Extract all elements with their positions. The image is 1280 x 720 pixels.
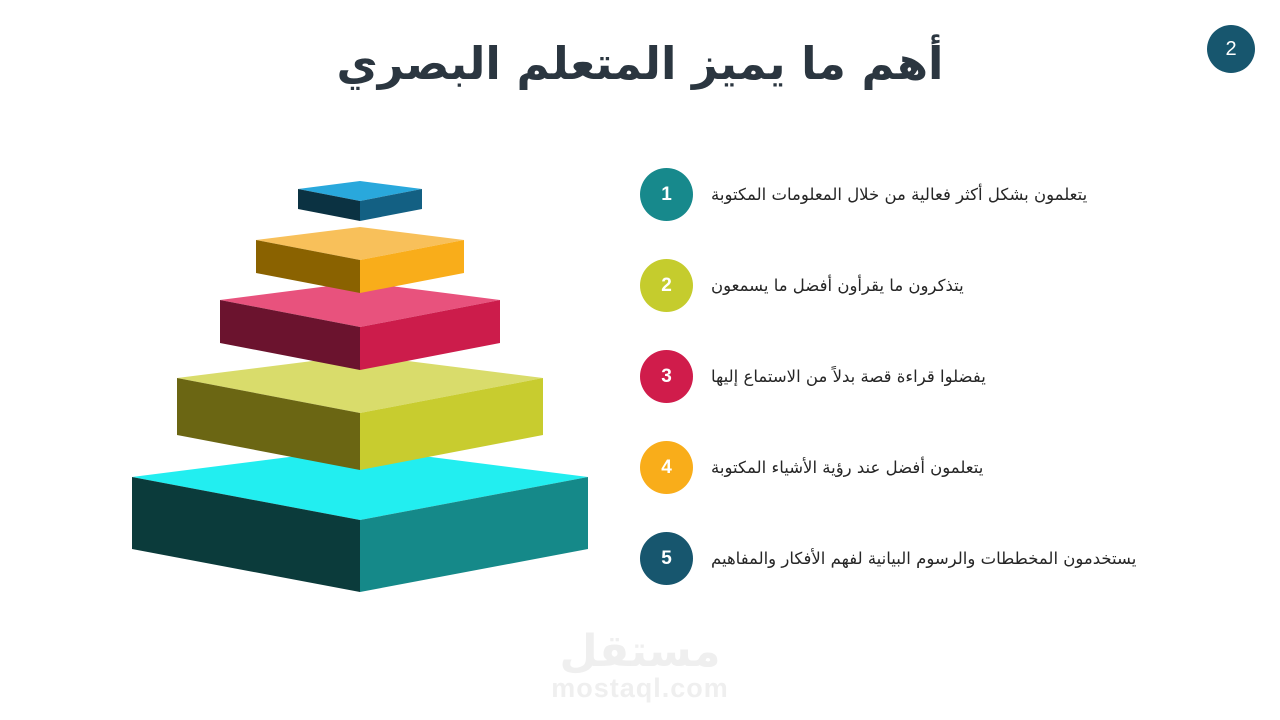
bullet-number-5: 5 bbox=[661, 548, 672, 570]
watermark: مستقل mostaql.com bbox=[0, 630, 1280, 704]
pyramid-level-2 bbox=[256, 227, 464, 293]
pyramid-svg bbox=[95, 160, 625, 610]
bullet-text-5: يستخدمون المخططات والرسوم البيانية لفهم … bbox=[693, 532, 1235, 585]
bullet-text-1: يتعلمون بشكل أكثر فعالية من خلال المعلوم… bbox=[693, 168, 1235, 221]
bullet-badge-4: 4 bbox=[640, 441, 693, 494]
list-item[interactable]: 2 يتذكرون ما يقرأون أفضل ما يسمعون bbox=[640, 259, 1235, 350]
bullet-badge-1: 1 bbox=[640, 168, 693, 221]
slide-canvas: 2 أهم ما يميز المتعلم البصري bbox=[0, 0, 1280, 720]
bullet-badge-3: 3 bbox=[640, 350, 693, 403]
bullet-list: 1 يتعلمون بشكل أكثر فعالية من خلال المعل… bbox=[640, 168, 1235, 623]
bullet-badge-5: 5 bbox=[640, 532, 693, 585]
list-item[interactable]: 3 يفضلوا قراءة قصة بدلاً من الاستماع إلي… bbox=[640, 350, 1235, 441]
bullet-text-2: يتذكرون ما يقرأون أفضل ما يسمعون bbox=[693, 259, 1235, 312]
pyramid-level-1 bbox=[298, 181, 422, 221]
bullet-badge-2: 2 bbox=[640, 259, 693, 312]
bullet-number-3: 3 bbox=[661, 366, 672, 388]
list-item[interactable]: 4 يتعلمون أفضل عند رؤية الأشياء المكتوبة bbox=[640, 441, 1235, 532]
pyramid-level-4 bbox=[177, 355, 543, 470]
bullet-number-4: 4 bbox=[661, 457, 672, 479]
watermark-domain: mostaql.com bbox=[0, 674, 1280, 704]
bullet-text-4: يتعلمون أفضل عند رؤية الأشياء المكتوبة bbox=[693, 441, 1235, 494]
pyramid-level-3 bbox=[220, 282, 500, 370]
list-item[interactable]: 5 يستخدمون المخططات والرسوم البيانية لفه… bbox=[640, 532, 1235, 623]
bullet-text-3: يفضلوا قراءة قصة بدلاً من الاستماع إليها bbox=[693, 350, 1235, 403]
bullet-number-1: 1 bbox=[661, 184, 672, 206]
pyramid-diagram bbox=[95, 160, 625, 610]
list-item[interactable]: 1 يتعلمون بشكل أكثر فعالية من خلال المعل… bbox=[640, 168, 1235, 259]
bullet-number-2: 2 bbox=[661, 275, 672, 297]
watermark-arabic-logo: مستقل bbox=[0, 630, 1280, 674]
page-title: أهم ما يميز المتعلم البصري bbox=[0, 36, 1280, 92]
